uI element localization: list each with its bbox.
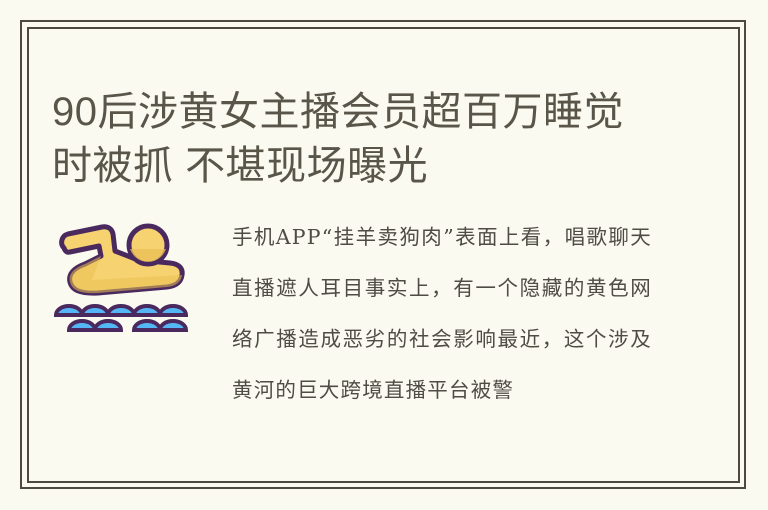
article-body: 手机APP“挂羊卖狗肉”表面上看，唱歌聊天直播遮人耳目事实上，有一个隐藏的黄色网… [202, 212, 652, 416]
illustration-container [52, 212, 202, 332]
page-title: 90后涉黄女主播会员超百万睡觉 时被抓 不堪现场曝光 [52, 85, 732, 193]
article-card: 90后涉黄女主播会员超百万睡觉 时被抓 不堪现场曝光 [0, 0, 768, 510]
content-row: 手机APP“挂羊卖狗肉”表面上看，唱歌聊天直播遮人耳目事实上，有一个隐藏的黄色网… [52, 212, 712, 416]
swimmer-icon [52, 220, 188, 332]
